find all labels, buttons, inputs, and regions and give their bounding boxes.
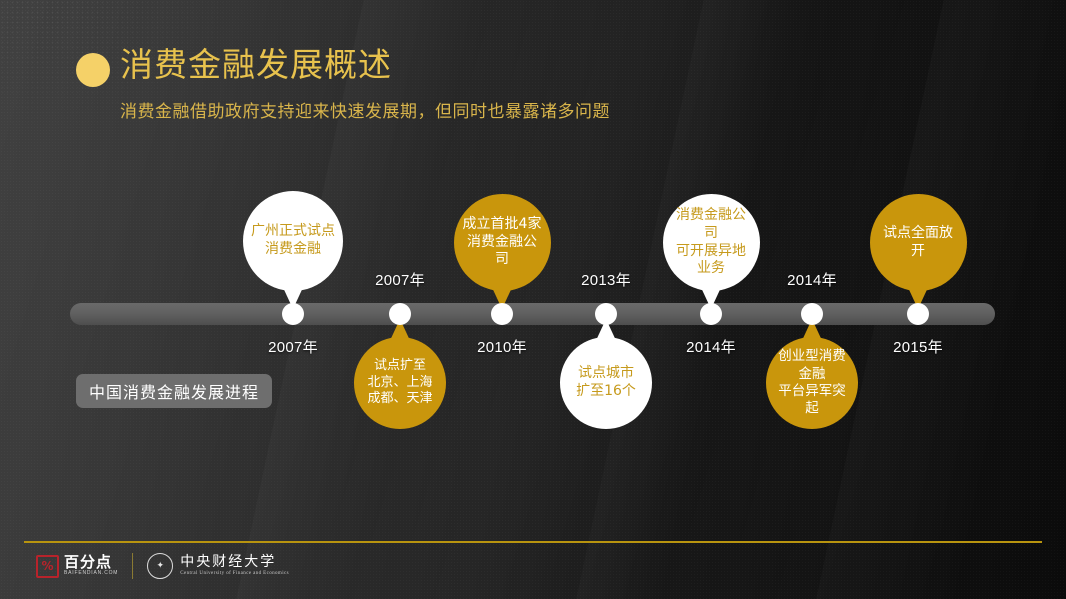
cufe-name-cn: 中央财经大学 — [180, 555, 289, 570]
timeline-bubble[interactable]: 成立首批4家消费金融公司 — [454, 194, 551, 291]
timeline-dot[interactable] — [907, 303, 929, 325]
title-bullet-icon — [76, 53, 110, 87]
timeline-bubble[interactable]: 创业型消费金融平台异军突起 — [766, 337, 858, 429]
timeline-bubble[interactable]: 消费金融公司可开展异地业务 — [663, 194, 760, 291]
timeline-dot[interactable] — [389, 303, 411, 325]
timeline-bubble[interactable]: 试点扩至北京、上海成都、天津 — [354, 337, 446, 429]
timeline-bubble-text: 创业型消费金融平台异军突起 — [766, 348, 858, 417]
timeline-dot[interactable] — [282, 303, 304, 325]
timeline-year-label: 2013年 — [581, 269, 631, 290]
cufe-name-en: Central University of Finance and Econom… — [180, 571, 289, 577]
timeline-year-label: 2007年 — [375, 269, 425, 290]
baifendian-name-en: BAIFENDIAN.COM — [64, 571, 118, 577]
timeline-bar — [70, 303, 995, 325]
slide-canvas: 消费金融发展概述 消费金融借助政府支持迎来快速发展期，但同时也暴露诸多问题 广州… — [0, 0, 1066, 599]
timeline-bubble-text: 成立首批4家消费金融公司 — [454, 216, 551, 270]
timeline-bubble[interactable]: 广州正式试点消费金融 — [243, 191, 343, 291]
timeline-year-label: 2007年 — [268, 336, 318, 357]
page-subtitle: 消费金融借助政府支持迎来快速发展期，但同时也暴露诸多问题 — [120, 97, 610, 122]
baifendian-name-cn: 百分点 — [64, 555, 118, 571]
timeline-dot[interactable] — [700, 303, 722, 325]
background-streak-2 — [576, 0, 793, 599]
timeline-bubble-text: 试点城市扩至16个 — [568, 365, 644, 401]
footer-divider-rule — [24, 541, 1042, 543]
timeline-year-label: 2010年 — [477, 336, 527, 357]
background-streak-3 — [816, 0, 1066, 599]
timeline-dot[interactable] — [801, 303, 823, 325]
timeline-year-label: 2014年 — [787, 269, 837, 290]
timeline-bubble-text: 试点扩至北京、上海成都、天津 — [359, 358, 440, 408]
cufe-seal-icon: ✦ — [147, 553, 173, 579]
baifendian-logo: % 百分点 BAIFENDIAN.COM — [36, 555, 118, 578]
timeline-bubble[interactable]: 试点全面放开 — [870, 194, 967, 291]
timeline-bubble[interactable]: 试点城市扩至16个 — [560, 337, 652, 429]
timeline-caption-label: 中国消费金融发展进程 — [89, 379, 259, 403]
cufe-logo: ✦ 中央财经大学 Central University of Finance a… — [147, 553, 289, 579]
background-streak-1 — [236, 0, 483, 599]
slide-footer: % 百分点 BAIFENDIAN.COM ✦ 中央财经大学 Central Un… — [36, 549, 289, 583]
timeline-year-label: 2014年 — [686, 336, 736, 357]
timeline-dot[interactable] — [491, 303, 513, 325]
timeline-caption-box: 中国消费金融发展进程 — [76, 374, 272, 408]
footer-logo-divider — [132, 553, 133, 579]
baifendian-mark-icon: % — [36, 555, 59, 578]
timeline-bubble-text: 消费金融公司可开展异地业务 — [663, 207, 760, 279]
timeline-dot[interactable] — [595, 303, 617, 325]
timeline-year-label: 2015年 — [893, 336, 943, 357]
page-title: 消费金融发展概述 — [120, 44, 392, 87]
timeline-bubble-text: 广州正式试点消费金融 — [243, 223, 343, 259]
timeline-bubble-text: 试点全面放开 — [870, 225, 967, 261]
